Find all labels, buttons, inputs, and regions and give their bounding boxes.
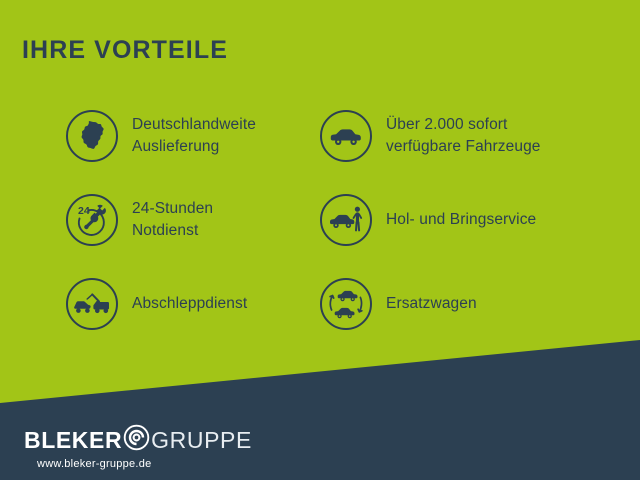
feature-deutschlandweite-auslieferung[interactable]: Deutschlandweite Auslieferung: [66, 94, 316, 178]
logo-primary-text: BLEKER: [24, 429, 122, 452]
two-cars-exchange-icon: [320, 278, 372, 330]
bleker-swirl-icon: [123, 424, 150, 456]
car-with-person-icon: [320, 194, 372, 246]
feature-label: 24-Stunden Notdienst: [132, 198, 213, 242]
logo-secondary-text: GRUPPE: [151, 429, 252, 452]
page-title: IHRE VORTEILE: [22, 38, 228, 63]
feature-hol-und-bringservice[interactable]: Hol- und Bringservice: [320, 178, 630, 262]
feature-label: Deutschlandweite Auslieferung: [132, 114, 256, 158]
feature-label: Hol- und Bringservice: [386, 209, 536, 231]
car-icon: [320, 110, 372, 162]
tow-truck-icon: [66, 278, 118, 330]
feature-24-stunden-notdienst[interactable]: 24 24-Stunden Notdienst: [66, 178, 316, 262]
brand-logo[interactable]: BLEKER GRUPPE www.bleker-gruppe.de: [24, 425, 252, 470]
feature-abschleppdienst[interactable]: Abschleppdienst: [66, 262, 316, 346]
germany-map-icon: [66, 110, 118, 162]
feature-ersatzwagen[interactable]: Ersatzwagen: [320, 262, 630, 346]
website-url[interactable]: www.bleker-gruppe.de: [37, 458, 252, 470]
features-left-column: Deutschlandweite Auslieferung 24: [66, 94, 316, 346]
feature-label: Über 2.000 sofort verfügbare Fahrzeuge: [386, 114, 541, 158]
advantages-slide: IHRE VORTEILE Deutschlandweite Ausliefer…: [0, 0, 640, 480]
features-right-column: Über 2.000 sofort verfügbare Fahrzeuge: [320, 94, 630, 346]
24h-wrench-icon: 24: [66, 194, 118, 246]
logo-wordmark: BLEKER GRUPPE: [24, 425, 252, 455]
feature-verfuegbare-fahrzeuge[interactable]: Über 2.000 sofort verfügbare Fahrzeuge: [320, 94, 630, 178]
feature-label: Abschleppdienst: [132, 293, 247, 315]
feature-label: Ersatzwagen: [386, 293, 477, 315]
